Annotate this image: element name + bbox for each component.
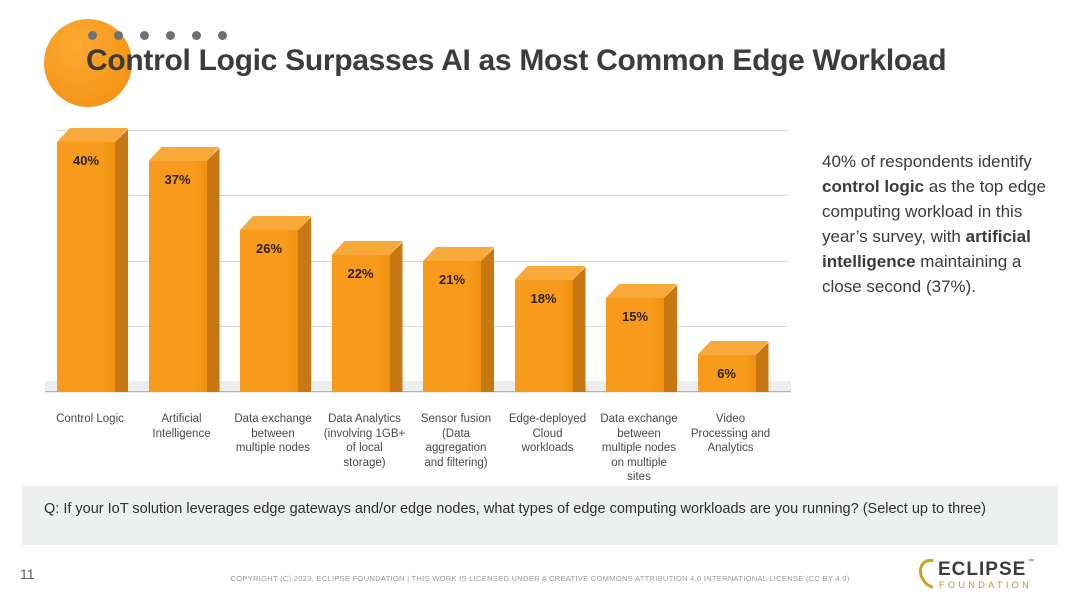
chart-bar: 40% <box>57 128 128 392</box>
chart-bar: 18% <box>515 266 586 392</box>
chart-bar-side-face <box>298 217 311 392</box>
chart-bar-value-label: 15% <box>606 309 664 324</box>
eclipse-foundation-logo: ECLIPSE ™ FOUNDATION <box>920 556 1050 596</box>
chart-bar-front-face <box>149 161 207 392</box>
chart-bar-value-label: 22% <box>332 266 390 281</box>
eclipse-logo-name: ECLIPSE <box>938 559 1026 581</box>
chart-bar: 37% <box>149 147 220 392</box>
header-dot <box>218 31 227 40</box>
chart-category-label: Data exchangebetweenmultiple nodes <box>226 412 320 456</box>
header-dot <box>114 31 123 40</box>
chart-category-label: Data Analytics(involving 1GB+of localsto… <box>318 412 412 470</box>
survey-question-text: Q: If your IoT solution leverages edge g… <box>44 499 1040 520</box>
side-callout-segment: 40% of respondents identify <box>822 152 1032 171</box>
survey-question-band: Q: If your IoT solution leverages edge g… <box>22 486 1058 545</box>
chart-bar-side-face <box>207 148 220 392</box>
chart-bar: 21% <box>423 247 494 392</box>
chart-bar: 26% <box>240 216 311 392</box>
chart-bar-value-label: 6% <box>698 366 756 381</box>
chart-category-label: VideoProcessing andAnalytics <box>684 412 778 456</box>
eclipse-trademark-icon: ™ <box>1028 559 1034 565</box>
chart-bar-value-label: 40% <box>57 153 115 168</box>
chart-bar-value-label: 26% <box>240 241 298 256</box>
chart-category-label: Data exchangebetweenmultiple nodeson mul… <box>592 412 686 485</box>
chart-bar-side-face <box>573 267 586 392</box>
side-callout-text: 40% of respondents identify control logi… <box>822 149 1058 299</box>
survey-question-line2: (Select up to three) <box>863 501 986 517</box>
chart-bar-side-face <box>115 129 128 392</box>
chart-bar-side-face <box>390 242 403 392</box>
header-dot <box>88 31 97 40</box>
chart-bar: 15% <box>606 284 677 392</box>
chart-bar-value-label: 18% <box>515 291 573 306</box>
chart-category-label: Sensor fusion(Dataaggregationand filteri… <box>409 412 503 470</box>
chart-bar-side-face <box>481 248 494 392</box>
chart-bar-value-label: 21% <box>423 272 481 287</box>
slide-header: Control Logic Surpasses AI as Most Commo… <box>0 0 1080 120</box>
chart-bar-side-face <box>664 285 677 392</box>
chart-bar: 6% <box>698 341 769 392</box>
header-dot <box>192 31 201 40</box>
copyright-notice: COPYRIGHT (C) 2023, ECLIPSE FOUNDATION |… <box>0 574 1080 583</box>
header-dot <box>166 31 175 40</box>
chart-category-label: ArtificialIntelligence <box>135 412 229 441</box>
chart-category-label: Control Logic <box>43 412 137 427</box>
header-dot-row <box>88 31 227 40</box>
chart-bar: 22% <box>332 241 403 392</box>
chart-bar-front-face <box>57 142 115 392</box>
header-dot <box>140 31 149 40</box>
bar-chart: 40%Control Logic37%ArtificialIntelligenc… <box>0 120 800 470</box>
survey-question-line1: Q: If your IoT solution leverages edge g… <box>44 501 859 517</box>
chart-category-label: Edge-deployedCloudworkloads <box>501 412 595 456</box>
chart-gridline <box>57 130 788 131</box>
side-callout-emphasis: control logic <box>822 177 924 196</box>
eclipse-logo-subtitle: FOUNDATION <box>939 580 1032 590</box>
chart-bar-value-label: 37% <box>149 172 207 187</box>
page-title: Control Logic Surpasses AI as Most Commo… <box>86 44 1046 88</box>
